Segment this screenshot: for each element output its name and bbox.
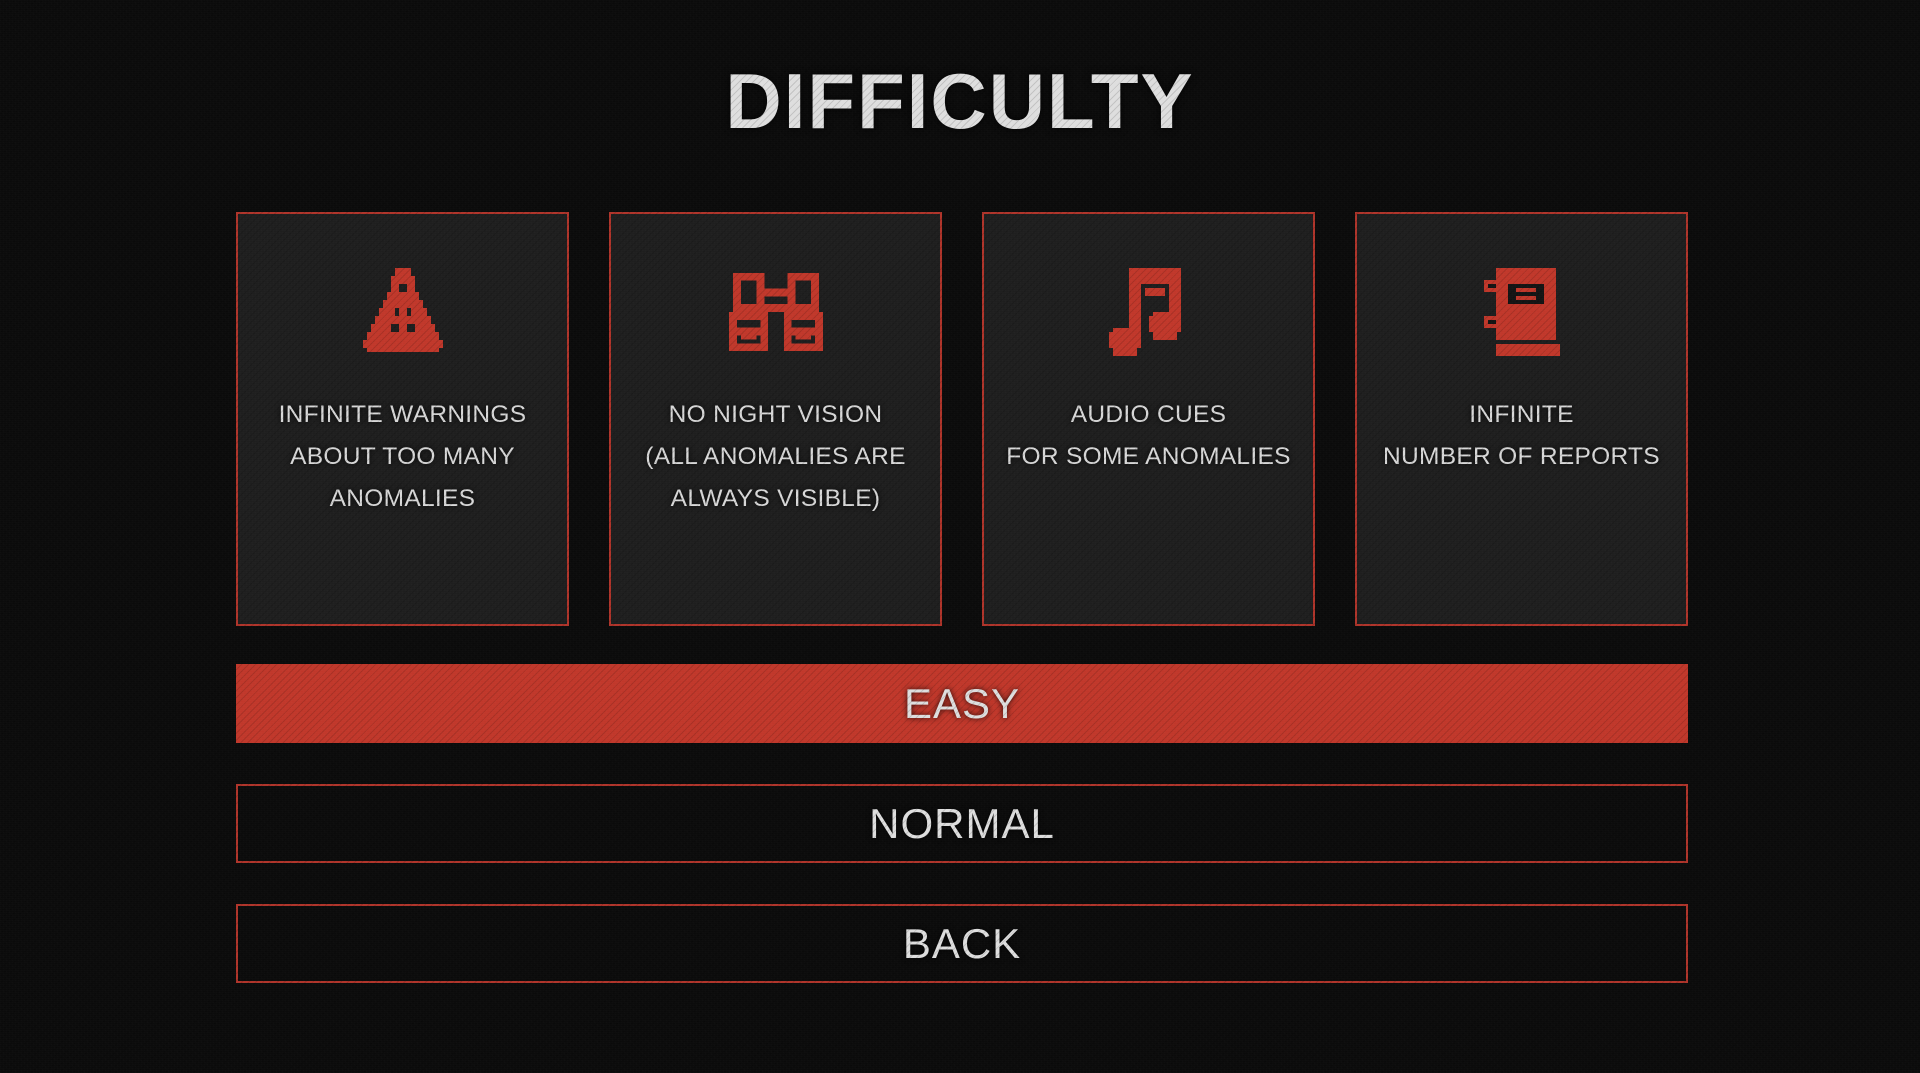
difficulty-button-normal-label: NORMAL <box>869 800 1055 848</box>
card-line-1: NO NIGHT VISION <box>619 394 932 436</box>
difficulty-menu-screen: DIFFICULTY <box>0 0 1920 1073</box>
feature-card-text: INFINITE NUMBER OF REPORTS <box>1357 394 1686 478</box>
feature-card-text: INFINITE WARNINGS ABOUT TOO MANY ANOMALI… <box>238 394 567 520</box>
card-line-1: INFINITE <box>1365 394 1678 436</box>
back-button-label: BACK <box>903 920 1021 968</box>
difficulty-button-normal[interactable]: NORMAL <box>236 784 1688 863</box>
report-book-icon <box>1480 260 1564 364</box>
music-note-icon <box>1105 260 1193 364</box>
card-line-3: ALWAYS VISIBLE) <box>619 478 932 520</box>
card-line-1: AUDIO CUES <box>992 394 1305 436</box>
back-button[interactable]: BACK <box>236 904 1688 983</box>
feature-card-infinite-warnings: INFINITE WARNINGS ABOUT TOO MANY ANOMALI… <box>236 212 569 626</box>
card-line-2: NUMBER OF REPORTS <box>1365 436 1678 478</box>
feature-card-no-night-vision: NO NIGHT VISION (ALL ANOMALIES ARE ALWAY… <box>609 212 942 626</box>
feature-card-infinite-reports: INFINITE NUMBER OF REPORTS <box>1355 212 1688 626</box>
feature-card-audio-cues: AUDIO CUES FOR SOME ANOMALIES <box>982 212 1315 626</box>
difficulty-button-easy-label: EASY <box>904 680 1020 728</box>
card-line-3: ANOMALIES <box>246 478 559 520</box>
card-line-1: INFINITE WARNINGS <box>246 394 559 436</box>
card-line-2: FOR SOME ANOMALIES <box>992 436 1305 478</box>
warning-cone-icon <box>355 260 451 364</box>
binoculars-icon <box>724 260 828 364</box>
difficulty-feature-cards: INFINITE WARNINGS ABOUT TOO MANY ANOMALI… <box>236 212 1688 626</box>
page-title: DIFFICULTY <box>0 56 1920 147</box>
feature-card-text: NO NIGHT VISION (ALL ANOMALIES ARE ALWAY… <box>611 394 940 520</box>
card-line-2: ABOUT TOO MANY <box>246 436 559 478</box>
difficulty-button-easy[interactable]: EASY <box>236 664 1688 743</box>
difficulty-menu-buttons: EASY NORMAL BACK <box>236 664 1688 983</box>
card-line-2: (ALL ANOMALIES ARE <box>619 436 932 478</box>
feature-card-text: AUDIO CUES FOR SOME ANOMALIES <box>984 394 1313 478</box>
